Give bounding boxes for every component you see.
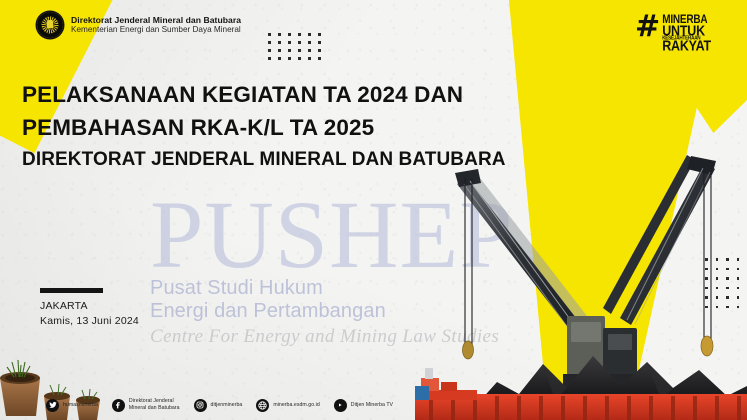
footer-item-facebook[interactable]: Direktorat Jenderal Mineral dan Batubara [112,398,180,411]
title-line-3: DIREKTORAT JENDERAL MINERAL DAN BATUBARA [22,147,506,174]
globe-icon [256,399,269,412]
esdm-seal-icon [37,12,63,38]
twitter-icon [46,399,59,412]
hashtag-word-rakyat: RAKYAT [662,40,711,53]
footer-social-bar: humasminerba Direktorat Jenderal Mineral… [0,390,747,420]
title-line-2: PEMBAHASAN RKA-K/L TA 2025 [22,111,506,144]
title-line-1: PELAKSANAAN KEGIATAN TA 2024 DAN [22,78,506,111]
header-line-2: Kementerian Energi dan Sumber Daya Miner… [71,25,241,35]
footer-item-twitter[interactable]: humasminerba [46,399,98,412]
coal-barge-crane-image [415,150,747,420]
instagram-icon [194,399,207,412]
crane-right [603,155,716,356]
page-title: PELAKSANAAN KEGIATAN TA 2024 DAN PEMBAHA… [22,78,506,174]
place-date: Kamis, 13 Juni 2024 [40,314,139,329]
place-city: JAKARTA [40,299,139,314]
minerba-untuk-rakyat-logo: # MINERBA UNTUK KESEJAHTERAAN RAKYAT [635,14,711,51]
footer-label-twitter: humasminerba [63,402,98,409]
header-line-1: Direktorat Jenderal Mineral dan Batubara [71,15,241,25]
footer-item-website[interactable]: minerba.esdm.go.id [256,399,319,412]
footer-label-facebook: Direktorat Jenderal Mineral dan Batubara [129,398,180,411]
ministry-header: Direktorat Jenderal Mineral dan Batubara… [37,12,241,38]
footer-label-website: minerba.esdm.go.id [273,402,319,409]
presentation-slide: PUSHEP Pusat Studi Hukum Energi dan Pert… [0,0,747,420]
youtube-icon [334,399,347,412]
footer-label-instagram: ditjenminerba [211,402,243,409]
place-and-date: JAKARTA Kamis, 13 Juni 2024 [40,288,139,329]
footer-item-instagram[interactable]: ditjenminerba [194,399,243,412]
title-rule [40,288,103,293]
facebook-icon [112,399,125,412]
dot-grid-top [268,33,328,65]
footer-label-youtube: Ditjen Minerba TV [351,402,393,409]
coal-barge-svg [415,150,747,420]
hash-symbol-icon: # [635,14,660,40]
footer-item-youtube[interactable]: Ditjen Minerba TV [334,399,393,412]
